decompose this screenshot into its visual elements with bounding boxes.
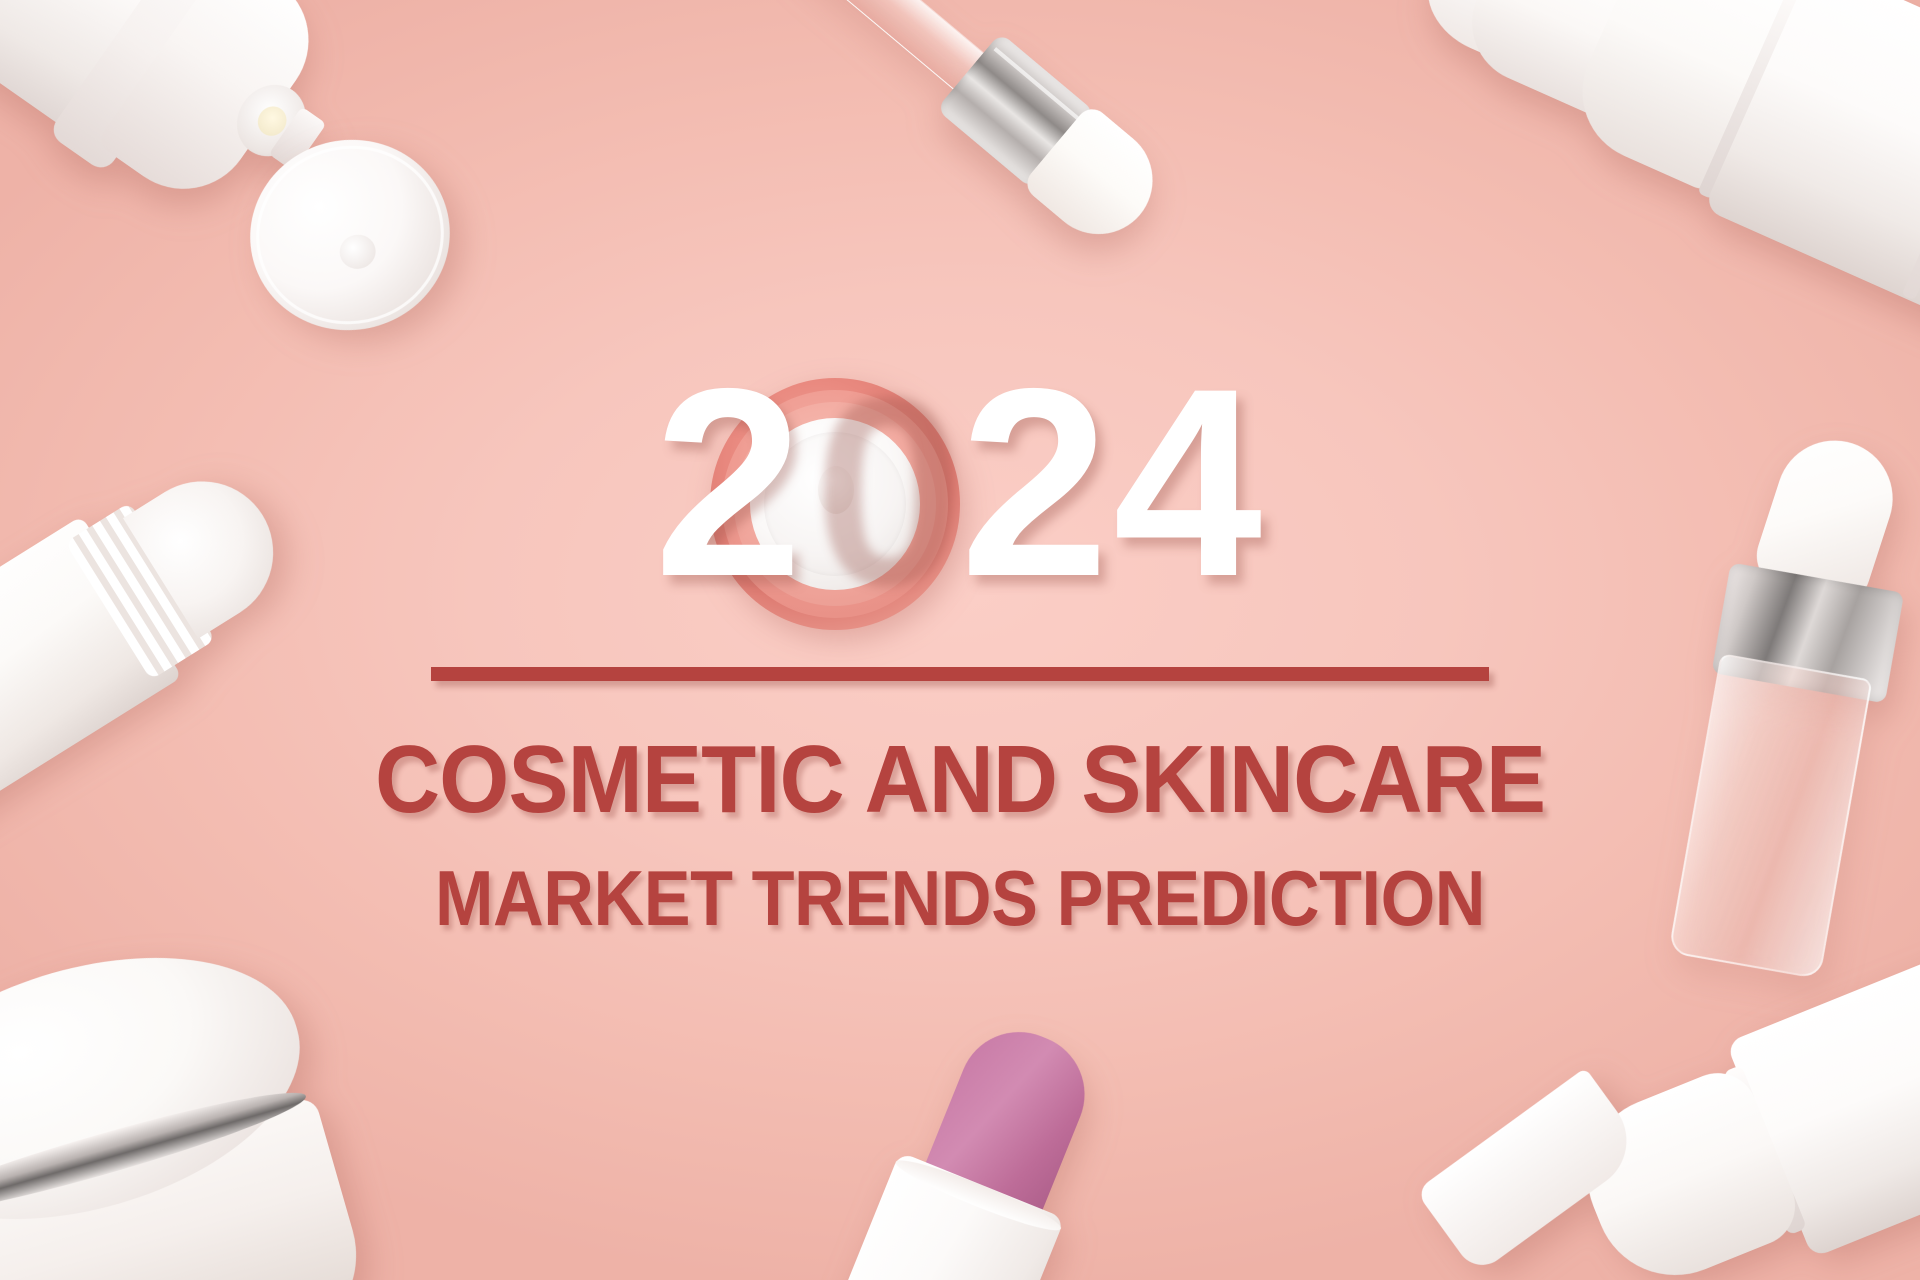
divider-rule [431, 667, 1489, 681]
lipstick-icon [775, 992, 1146, 1280]
flip-lid-disc-icon [232, 121, 467, 348]
year-digit-2-placeholder-behind-jar: 0 [807, 332, 960, 632]
year-display: 2024 [0, 348, 1920, 616]
glass-pipette-dropper-icon [688, 0, 1203, 330]
cream-jar-icon [0, 912, 379, 1280]
page-title: COSMETIC AND SKINCARE [58, 730, 1863, 830]
page-subtitle: MARKET TRENDS PREDICTION [96, 856, 1824, 940]
pump-bottle-top-right-icon [1380, 0, 1920, 374]
year-digit-3: 2 [960, 332, 1113, 632]
year-digit-1: 2 [654, 332, 807, 632]
banner-canvas: 2024 COSMETIC AND SKINCARE MARKET TRENDS… [0, 0, 1920, 1280]
year-digit-4: 4 [1113, 332, 1266, 632]
lid-rim [240, 128, 461, 341]
